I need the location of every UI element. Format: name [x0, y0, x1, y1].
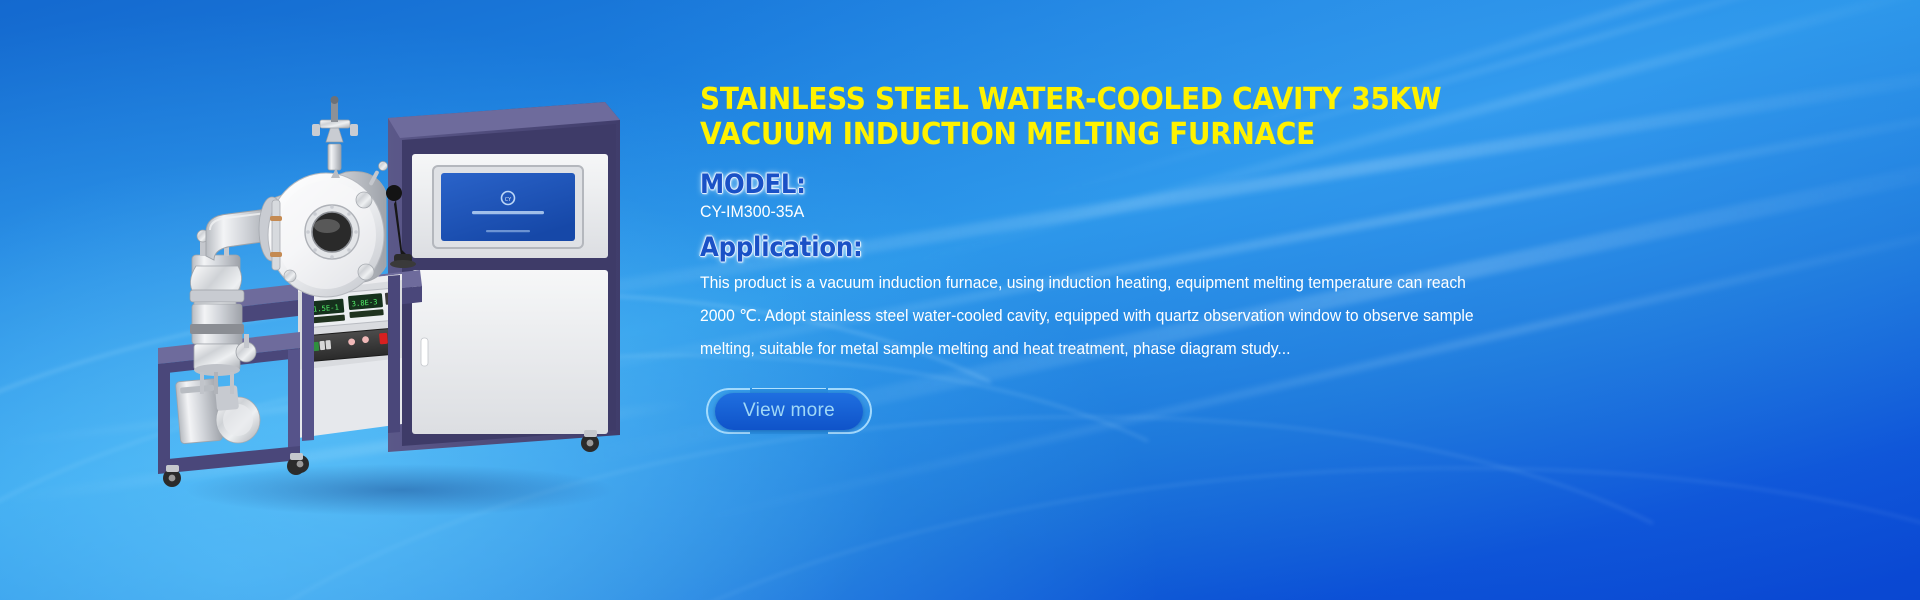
cabinet-lower-panel	[412, 270, 608, 434]
power-button	[379, 333, 388, 345]
view-more-button-wrapper: View more	[706, 388, 872, 434]
cabinet-door-handle	[421, 338, 428, 366]
product-shadow	[185, 464, 615, 516]
model-value: CY-IM300-35A	[700, 202, 1527, 222]
touchscreen-hmi: CY	[433, 166, 583, 248]
vacuum-chamber	[259, 171, 386, 297]
background-wave	[485, 426, 1920, 600]
chamber-knob	[284, 270, 296, 282]
page-title: STAINLESS STEEL WATER-COOLED CAVITY 35KW…	[700, 82, 1518, 153]
chamber-knob	[356, 192, 372, 208]
control-cabinet: CY	[388, 102, 620, 452]
chamber-knob	[358, 264, 374, 280]
lever-knob	[386, 185, 402, 201]
banner-content: STAINLESS STEEL WATER-COOLED CAVITY 35KW…	[700, 82, 1580, 434]
model-label: MODEL:	[700, 169, 1492, 200]
quartz-observation-window	[305, 205, 359, 259]
ring-segment-top	[752, 387, 826, 389]
product-description: This product is a vacuum induction furna…	[700, 267, 1489, 366]
chamber-hinge	[272, 200, 280, 270]
svg-text:CY: CY	[505, 197, 512, 203]
ring-segment-bottom	[752, 433, 826, 435]
top-feedthrough-assembly	[312, 96, 358, 178]
product-image: CY 1.5E-1 3.8E-3	[150, 80, 620, 520]
application-label: Application:	[700, 232, 1492, 263]
product-banner: CY 1.5E-1 3.8E-3	[0, 0, 1920, 600]
view-more-button[interactable]: View more	[715, 393, 863, 430]
